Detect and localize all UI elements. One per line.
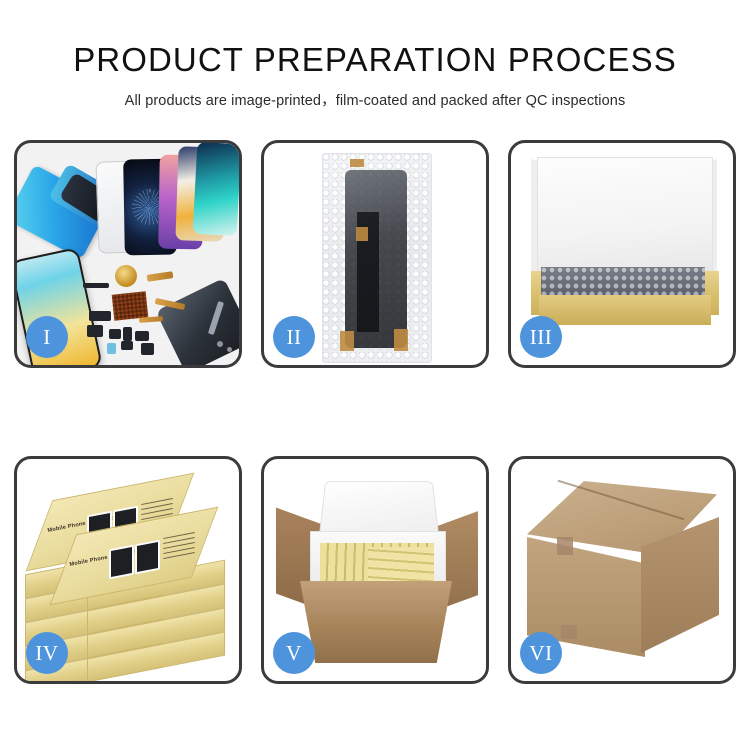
flex-cable-3 — [139, 316, 163, 323]
panel-badge-5: V — [273, 632, 315, 674]
part-module-e — [135, 331, 149, 341]
speaker-component — [115, 265, 137, 287]
part-module-d — [123, 327, 132, 341]
box-lid-panel — [537, 157, 713, 281]
process-panel-4: Mobile Phone Spare Parts Mobile Phone Sp… — [14, 456, 242, 684]
process-panel-grid: I II — [14, 140, 736, 684]
carton-body — [300, 581, 452, 663]
process-panel-2: II — [261, 140, 489, 368]
tape-tab-bottom-left — [340, 331, 354, 351]
part-module-f — [121, 341, 133, 350]
tape-tab-top — [350, 159, 364, 167]
part-module-b — [87, 325, 103, 337]
phone-back-housing — [156, 278, 239, 365]
part-module-a — [89, 311, 111, 321]
teal-gradient-phone — [193, 143, 239, 236]
part-sim-tray — [107, 343, 116, 354]
bubble-wrapped-contents — [541, 267, 705, 295]
box-front-wall — [539, 295, 711, 325]
box-screen-graphic-4 — [135, 540, 160, 575]
process-panel-1: I — [14, 140, 242, 368]
part-camera-module — [141, 343, 154, 355]
part-module-c — [109, 329, 121, 339]
carton-tape-upper — [557, 537, 573, 555]
panel-badge-3: III — [520, 316, 562, 358]
process-panel-5: V — [261, 456, 489, 684]
panel-badge-6: VI — [520, 632, 562, 674]
panel-badge-1: I — [26, 316, 68, 358]
bubble-wrap-bag — [322, 153, 432, 363]
product-preparation-process-page: PRODUCT PREPARATION PROCESS All products… — [0, 0, 750, 750]
page-title: PRODUCT PREPARATION PROCESS — [0, 0, 750, 78]
process-panel-6: VI — [508, 456, 736, 684]
screw-2 — [227, 347, 232, 352]
screw-1 — [217, 341, 223, 347]
carton-tape-lower — [561, 625, 577, 639]
box-screen-graphic-3 — [109, 545, 134, 580]
yellow-boxes-right-group — [368, 547, 434, 585]
part-connector-bar — [83, 283, 109, 288]
panel-badge-4: IV — [26, 632, 68, 674]
panel-badge-2: II — [273, 316, 315, 358]
page-subtitle: All products are image-printed，film-coat… — [0, 78, 750, 110]
flex-cable-1 — [147, 271, 174, 282]
tape-tab-middle — [356, 227, 368, 241]
tape-tab-bottom-right — [394, 329, 408, 351]
process-panel-3: III — [508, 140, 736, 368]
logic-board-chip — [112, 291, 149, 320]
header: PRODUCT PREPARATION PROCESS All products… — [0, 0, 750, 110]
